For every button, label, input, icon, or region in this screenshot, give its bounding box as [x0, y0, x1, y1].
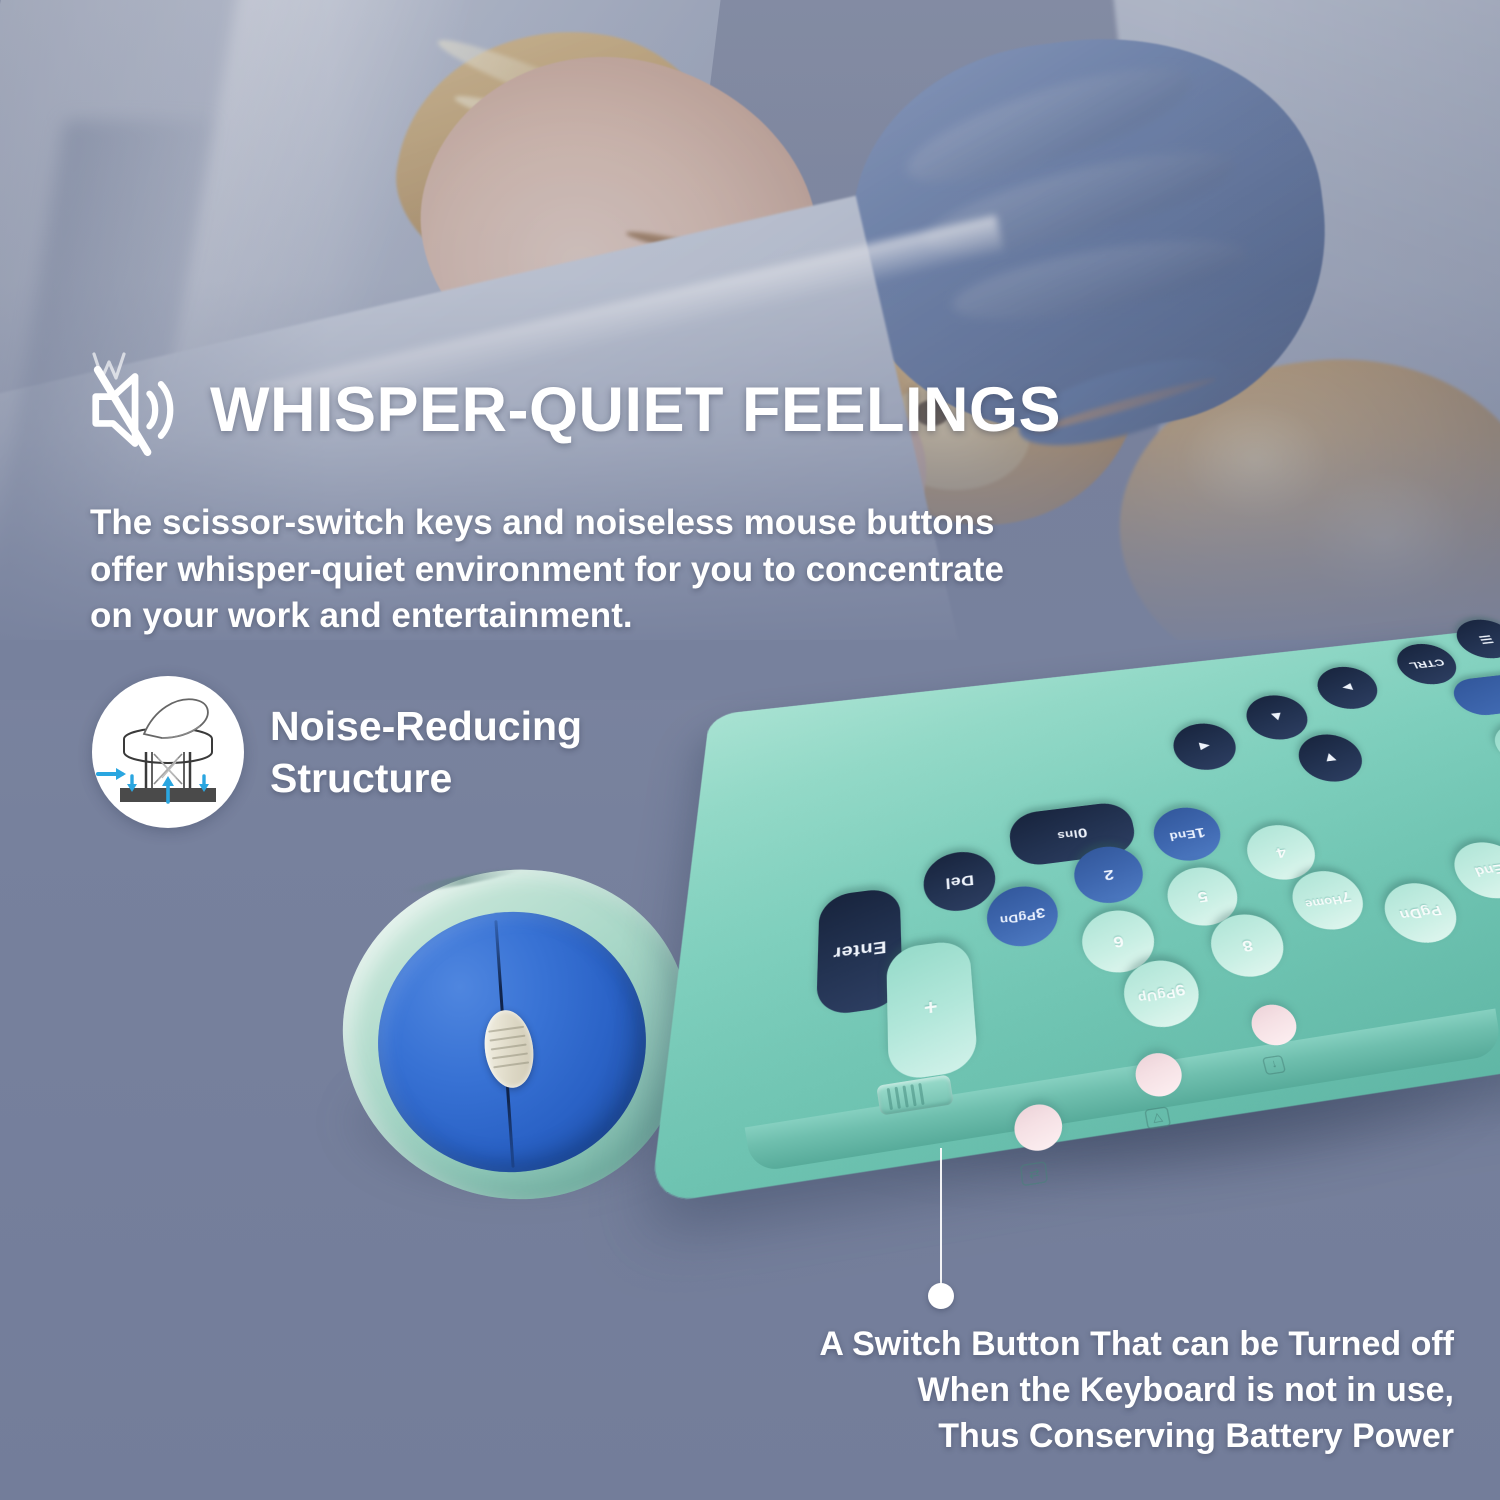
feature-badge-label: Noise-Reducing Structure	[270, 700, 582, 805]
keycap-⟷[interactable]: ⟷	[1487, 708, 1500, 768]
function-legend-2: ▽	[1144, 1106, 1171, 1129]
feature-label-line-2: Structure	[270, 752, 582, 804]
keycap-☰[interactable]: ☰	[1449, 617, 1500, 661]
caption-line-1: A Switch Button That can be Turned off	[819, 1322, 1454, 1368]
scissor-switch-diagram-icon	[92, 676, 244, 828]
keycap-+[interactable]: +	[886, 939, 978, 1083]
mute-speaker-icon	[88, 364, 184, 456]
noise-reducing-icon-circle	[92, 676, 244, 828]
keycap-del[interactable]: Del	[922, 848, 998, 915]
callout-caption: A Switch Button That can be Turned off W…	[819, 1322, 1454, 1460]
function-legend-1: ⇄	[1021, 1161, 1048, 1186]
wireless-keyboard: EnterDel0Ins1End23PgDn4567Home89PgUp+PgD…	[700, 540, 1500, 1200]
keycap-end[interactable]: End	[1445, 839, 1500, 903]
keycap-▸[interactable]: ▸	[1311, 664, 1385, 712]
feature-label-line-1: Noise-Reducing	[270, 700, 582, 752]
keycap-ctrl[interactable]: CTRL	[1390, 641, 1465, 687]
keycap-3-pgdn[interactable]: 3PgDn	[984, 882, 1061, 950]
callout-leader-line	[940, 1148, 942, 1288]
keycap-1-end[interactable]: 1End	[1149, 804, 1227, 865]
callout-leader-dot	[928, 1283, 954, 1309]
caption-line-2: When the Keyboard is not in use,	[819, 1368, 1454, 1414]
keycap-pgdn[interactable]: PgDn	[1376, 879, 1467, 947]
promo-banner: WHISPER-QUIET FEELINGS The scissor-switc…	[0, 0, 1500, 1500]
keycap-▾[interactable]: ▾	[1292, 731, 1370, 785]
page-title: WHISPER-QUIET FEELINGS	[210, 379, 1061, 442]
feature-badge: Noise-Reducing Structure	[92, 676, 582, 828]
headline-row: WHISPER-QUIET FEELINGS	[88, 364, 1061, 456]
keycap-◂[interactable]: ◂	[1168, 720, 1242, 773]
caption-line-3: Thus Conserving Battery Power	[819, 1414, 1454, 1460]
wireless-mouse	[330, 862, 710, 1212]
keycap-▴[interactable]: ▴	[1240, 692, 1314, 742]
